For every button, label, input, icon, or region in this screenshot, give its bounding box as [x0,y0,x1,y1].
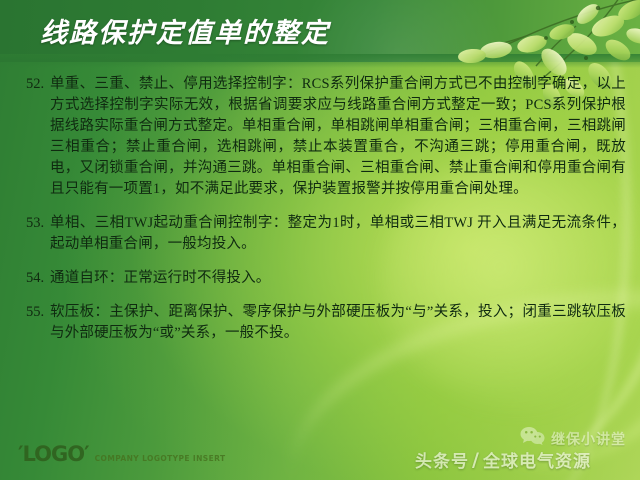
list-item-number: 52. [26,74,50,95]
list-item: 54. 通道自环：正常运行时不得投入。 [0,268,640,289]
list-item: 55. 软压板：主保护、距离保护、零序保护与外部硬压板为“与”关系，投入；闭重三… [0,302,640,344]
list-item: 53. 单相、三相TWJ起动重合闸控制字：整定为1时，单相或三相TWJ 开入且满… [0,213,640,255]
list-item-number: 53. [26,213,50,234]
watermark-brand-text: 继保小讲堂 [551,429,626,449]
logo-placeholder-text: ′LOGO′ [18,442,89,466]
header-fade [0,54,640,68]
watermark-separator: / [472,449,480,471]
list-item-text: 软压板：主保护、距离保护、零序保护与外部硬压板为“与”关系，投入；闭重三跳软压板… [50,302,626,344]
wechat-icon [520,426,546,451]
list-item: 52. 单重、三重、禁止、停用选择控制字：RCS系列保护重合闸方式已不由控制字确… [0,74,640,200]
logo-subtitle: COMPANY LOGOTYPE INSERT [95,454,226,463]
watermark-source-line: 头条号 / 全球电气资源 [415,447,591,472]
footer-logo: ′LOGO′ COMPANY LOGOTYPE INSERT [18,442,225,466]
list-item-number: 55. [26,302,50,323]
slide-canvas: 线路保护定值单的整定 [0,0,640,480]
list-item-text: 单重、三重、禁止、停用选择控制字：RCS系列保护重合闸方式已不由控制字确定，以上… [50,74,626,200]
slide-body: 52. 单重、三重、禁止、停用选择控制字：RCS系列保护重合闸方式已不由控制字确… [0,74,640,357]
slide-header: 线路保护定值单的整定 [0,0,640,62]
page-title: 线路保护定值单的整定 [40,11,330,50]
list-item-number: 54. [26,268,50,289]
list-item-text: 单相、三相TWJ起动重合闸控制字：整定为1时，单相或三相TWJ 开入且满足无流条… [50,213,626,255]
list-item-text: 通道自环：正常运行时不得投入。 [50,268,626,289]
watermark: 继保小讲堂 头条号 / 全球电气资源 [415,424,630,472]
watermark-brand-line: 继保小讲堂 [520,426,626,451]
watermark-platform: 头条号 [415,447,469,472]
watermark-site: 全球电气资源 [483,447,591,472]
